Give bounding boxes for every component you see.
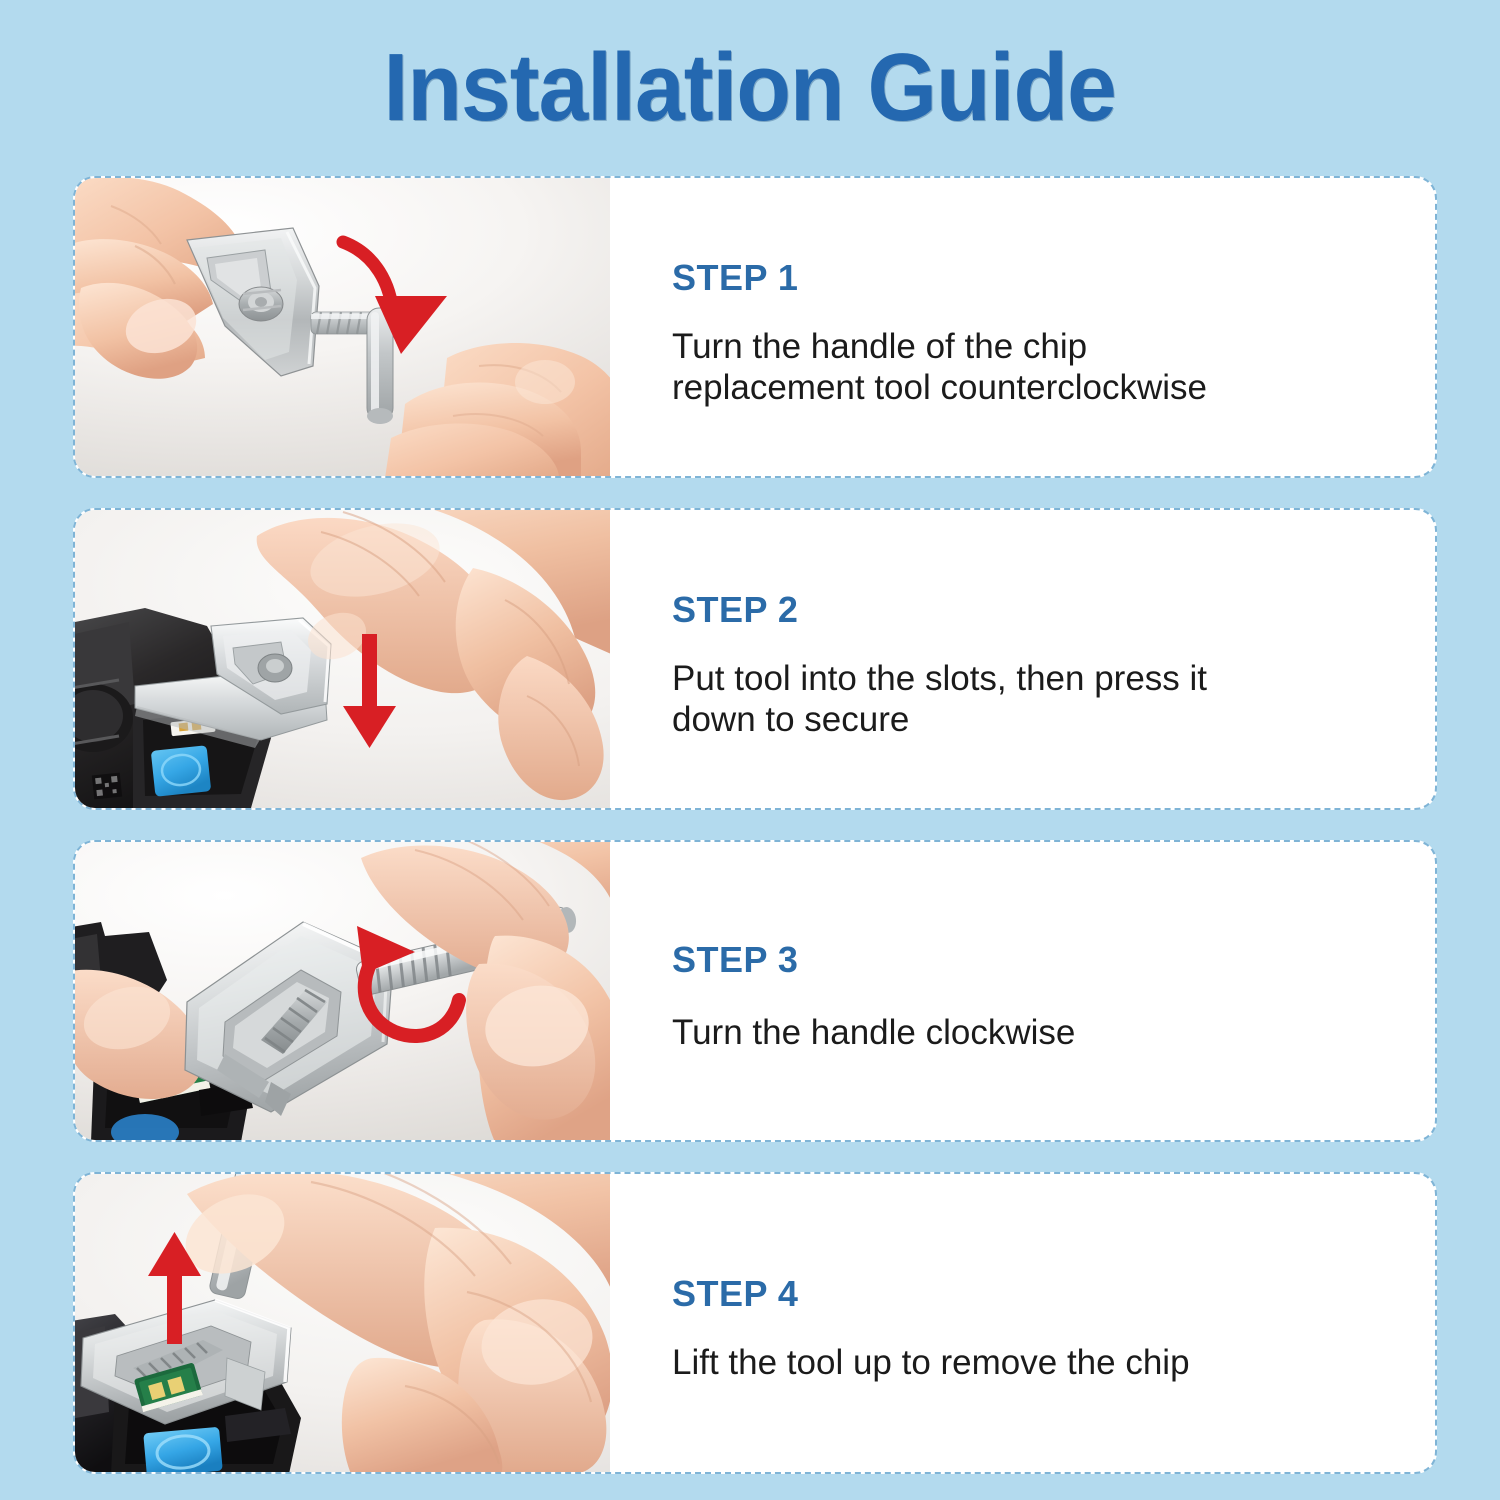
step-4-photo xyxy=(75,1174,610,1472)
step-1-photo-inner xyxy=(75,178,610,476)
step-2-photo xyxy=(75,510,610,808)
step-3-photo-inner xyxy=(75,842,610,1140)
step-4-heading: STEP 4 xyxy=(672,1276,1395,1312)
curved-arrow-right-icon xyxy=(343,242,447,354)
step-2-heading: STEP 2 xyxy=(672,592,1395,628)
step-4-photo-inner xyxy=(75,1174,610,1472)
step-3-text: STEP 3 Turn the handle clockwise xyxy=(610,842,1435,1140)
step-card-4: STEP 4 Lift the tool up to remove the ch… xyxy=(73,1172,1437,1474)
steps-list: STEP 1 Turn the handle of the chip repla… xyxy=(73,176,1437,1474)
installation-guide-page: Installation Guide xyxy=(0,0,1500,1500)
step-4-illustration xyxy=(75,1174,610,1472)
step-1-body: Turn the handle of the chip replacement … xyxy=(672,326,1232,409)
step-1-text: STEP 1 Turn the handle of the chip repla… xyxy=(610,178,1435,476)
step-3-photo xyxy=(75,842,610,1140)
step-card-2: STEP 2 Put tool into the slots, then pre… xyxy=(73,508,1437,810)
step-1-photo xyxy=(75,178,610,476)
step-card-3: STEP 3 Turn the handle clockwise xyxy=(73,840,1437,1142)
right-hand xyxy=(385,343,610,476)
step-4-text: STEP 4 Lift the tool up to remove the ch… xyxy=(610,1174,1435,1472)
right-hand xyxy=(361,842,610,1140)
step-1-heading: STEP 1 xyxy=(672,260,1395,296)
step-4-body: Lift the tool up to remove the chip xyxy=(672,1342,1232,1383)
step-3-illustration xyxy=(75,842,610,1140)
step-2-photo-inner xyxy=(75,510,610,808)
step-2-text: STEP 2 Put tool into the slots, then pre… xyxy=(610,510,1435,808)
step-3-heading: STEP 3 xyxy=(672,942,1395,978)
step-card-1: STEP 1 Turn the handle of the chip repla… xyxy=(73,176,1437,478)
left-thumb xyxy=(75,970,203,1099)
step-2-illustration xyxy=(75,510,610,808)
step-2-body: Put tool into the slots, then press it d… xyxy=(672,658,1232,741)
page-title-container: Installation Guide xyxy=(0,0,1500,176)
step-1-illustration xyxy=(75,178,610,476)
step-3-body: Turn the handle clockwise xyxy=(672,1012,1232,1053)
page-title: Installation Guide xyxy=(384,33,1116,143)
